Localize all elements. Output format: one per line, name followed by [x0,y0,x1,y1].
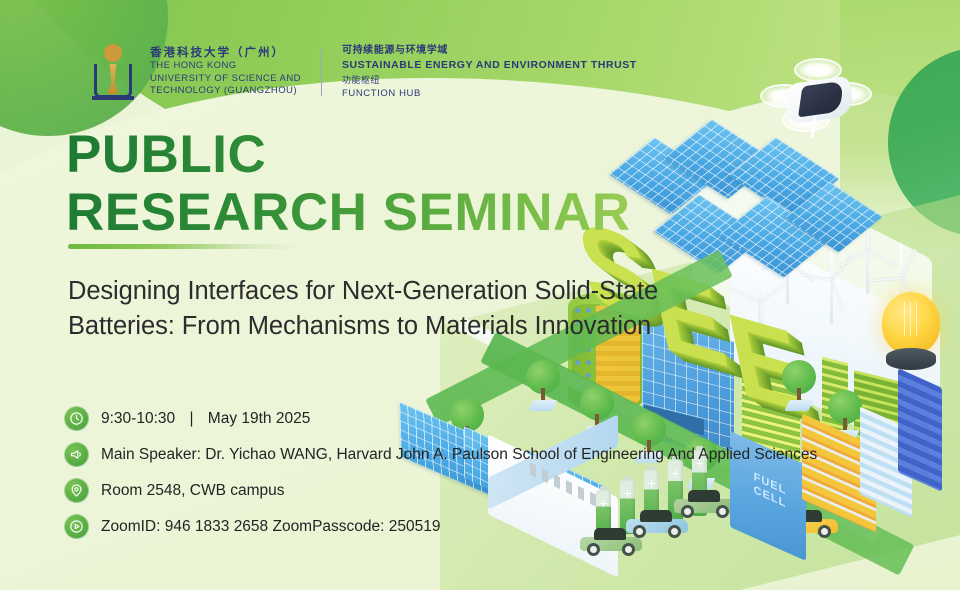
university-name-en-1: THE HONG KONG [150,60,301,73]
detail-row-speaker: Main Speaker: Dr. Yichao WANG, Harvard J… [64,438,817,471]
event-details-list: 9:30-10:30 | May 19th 2025 Main Speaker:… [64,402,817,546]
lightbulb-base [886,348,936,370]
headline-underline-rule [68,244,300,249]
headline-line-2: RESEARCH SEMINAR [66,184,631,242]
detail-row-time: 9:30-10:30 | May 19th 2025 [64,402,817,435]
university-name-cn: 香港科技大学（广州） [150,46,301,60]
location-pin-icon [64,478,89,503]
event-time: 9:30-10:30 [101,410,175,427]
seminar-title: Designing Interfaces for Next-Generation… [68,274,668,344]
university-name-en-2: UNIVERSITY OF SCIENCE AND [150,73,301,86]
detail-text-speaker: Main Speaker: Dr. Yichao WANG, Harvard J… [101,446,817,464]
clock-icon [64,406,89,431]
hub-name-cn: 功能枢纽 [342,74,637,87]
brand-lockup: 香港科技大学（广州） THE HONG KONG UNIVERSITY OF S… [92,44,637,100]
thrust-name-block: 可持续能源与环境学域 SUSTAINABLE ENERGY AND ENVIRO… [342,44,637,100]
megaphone-icon [64,442,89,467]
hub-name-en: FUNCTION HUB [342,87,637,100]
detail-text-zoom: ZoomID: 946 1833 2658 ZoomPasscode: 2505… [101,518,441,536]
lightbulb-filament [900,302,922,336]
thrust-name-en: SUSTAINABLE ENERGY AND ENVIRONMENT THRUS… [342,58,637,72]
event-date: May 19th 2025 [208,410,311,427]
seminar-poster: S E E [0,0,960,590]
thrust-name-cn: 可持续能源与环境学域 [342,44,637,58]
detail-row-location: Room 2548, CWB campus [64,474,817,507]
headline-line-1: PUBLIC [66,125,266,184]
poster-headline: PUBLIC RESEARCH SEMINAR [66,126,631,242]
solar-drone-icon [760,54,880,150]
detail-text-time: 9:30-10:30 | May 19th 2025 [101,410,310,428]
time-date-separator: | [179,410,203,428]
video-play-icon [64,514,89,539]
university-name-en-3: TECHNOLOGY (GUANGZHOU) [150,85,301,98]
logo-divider [321,48,322,96]
detail-text-location: Room 2548, CWB campus [101,482,285,500]
detail-row-zoom: ZoomID: 946 1833 2658 ZoomPasscode: 2505… [64,510,817,543]
university-name-block: 香港科技大学（广州） THE HONG KONG UNIVERSITY OF S… [150,46,301,98]
storage-rack [898,368,942,492]
hkust-crest-icon [92,44,134,100]
